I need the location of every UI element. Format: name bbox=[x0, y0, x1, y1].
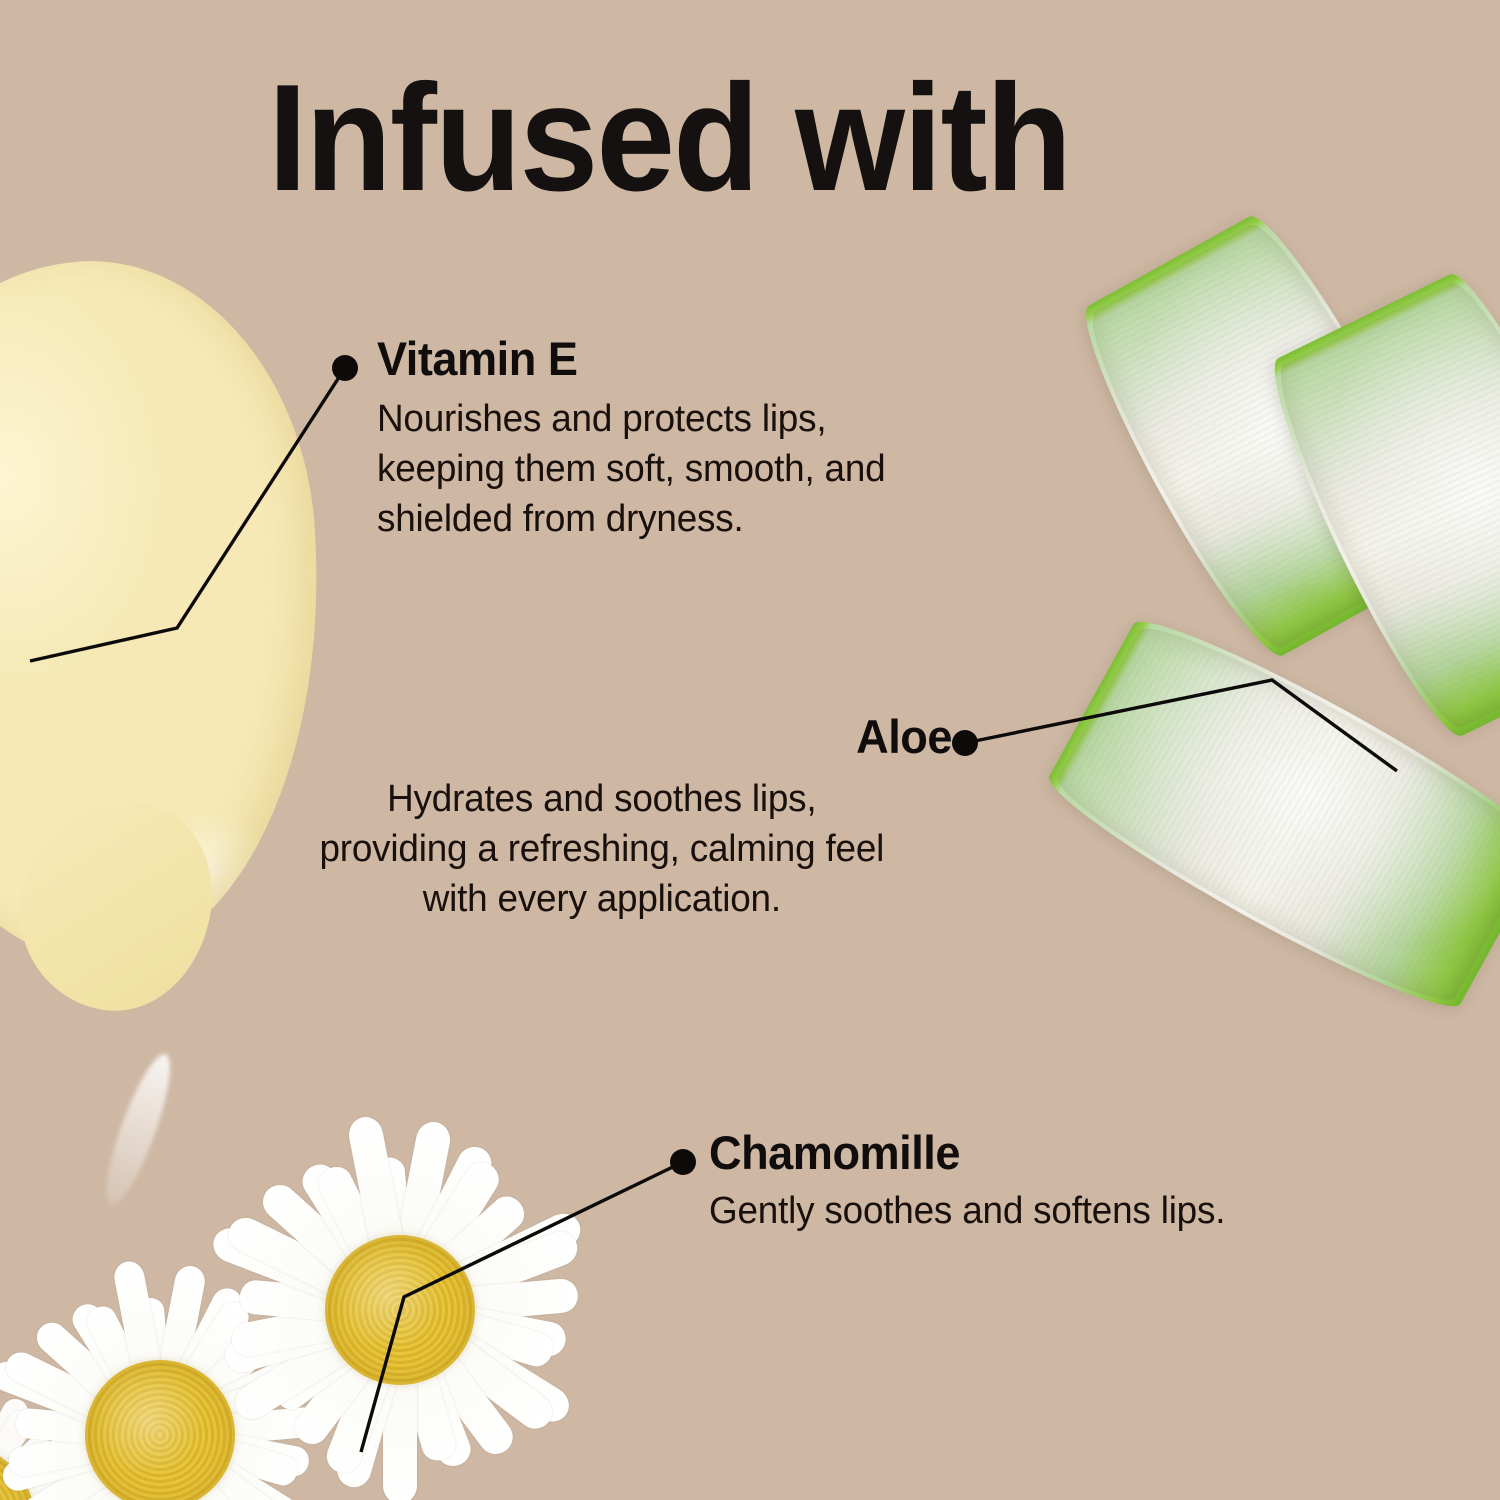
description-line: Gently soothes and softens lips. bbox=[709, 1186, 1225, 1236]
ingredient-block-aloe: Aloe Hydrates and soothes lips, providin… bbox=[272, 712, 952, 924]
description-line: shielded from dryness. bbox=[377, 494, 885, 544]
ingredient-block-chamomille: Chamomille Gently soothes and softens li… bbox=[709, 1128, 1241, 1236]
description-line: with every application. bbox=[272, 874, 932, 924]
ingredient-name-vitamin-e: Vitamin E bbox=[377, 334, 880, 384]
description-line: keeping them soft, smooth, and bbox=[377, 444, 885, 494]
description-line: Hydrates and soothes lips, bbox=[272, 774, 932, 824]
description-line: Nourishes and protects lips, bbox=[377, 394, 885, 444]
description-line: providing a refreshing, calming feel bbox=[272, 824, 932, 874]
page-title: Infused with bbox=[268, 62, 1070, 214]
infographic-canvas: Infused with Vitamin E Nourishes and pro… bbox=[0, 0, 1500, 1500]
ingredient-description-vitamin-e: Nourishes and protects lips, keeping the… bbox=[377, 394, 885, 544]
ingredient-description-chamomille: Gently soothes and softens lips. bbox=[709, 1186, 1225, 1236]
ingredient-block-vitamin-e: Vitamin E Nourishes and protects lips, k… bbox=[377, 334, 901, 544]
ingredient-name-chamomille: Chamomille bbox=[709, 1128, 1220, 1178]
ingredient-name-aloe: Aloe bbox=[299, 712, 952, 762]
text-layer: Infused with Vitamin E Nourishes and pro… bbox=[0, 0, 1500, 1500]
ingredient-description-aloe: Hydrates and soothes lips, providing a r… bbox=[272, 774, 932, 924]
